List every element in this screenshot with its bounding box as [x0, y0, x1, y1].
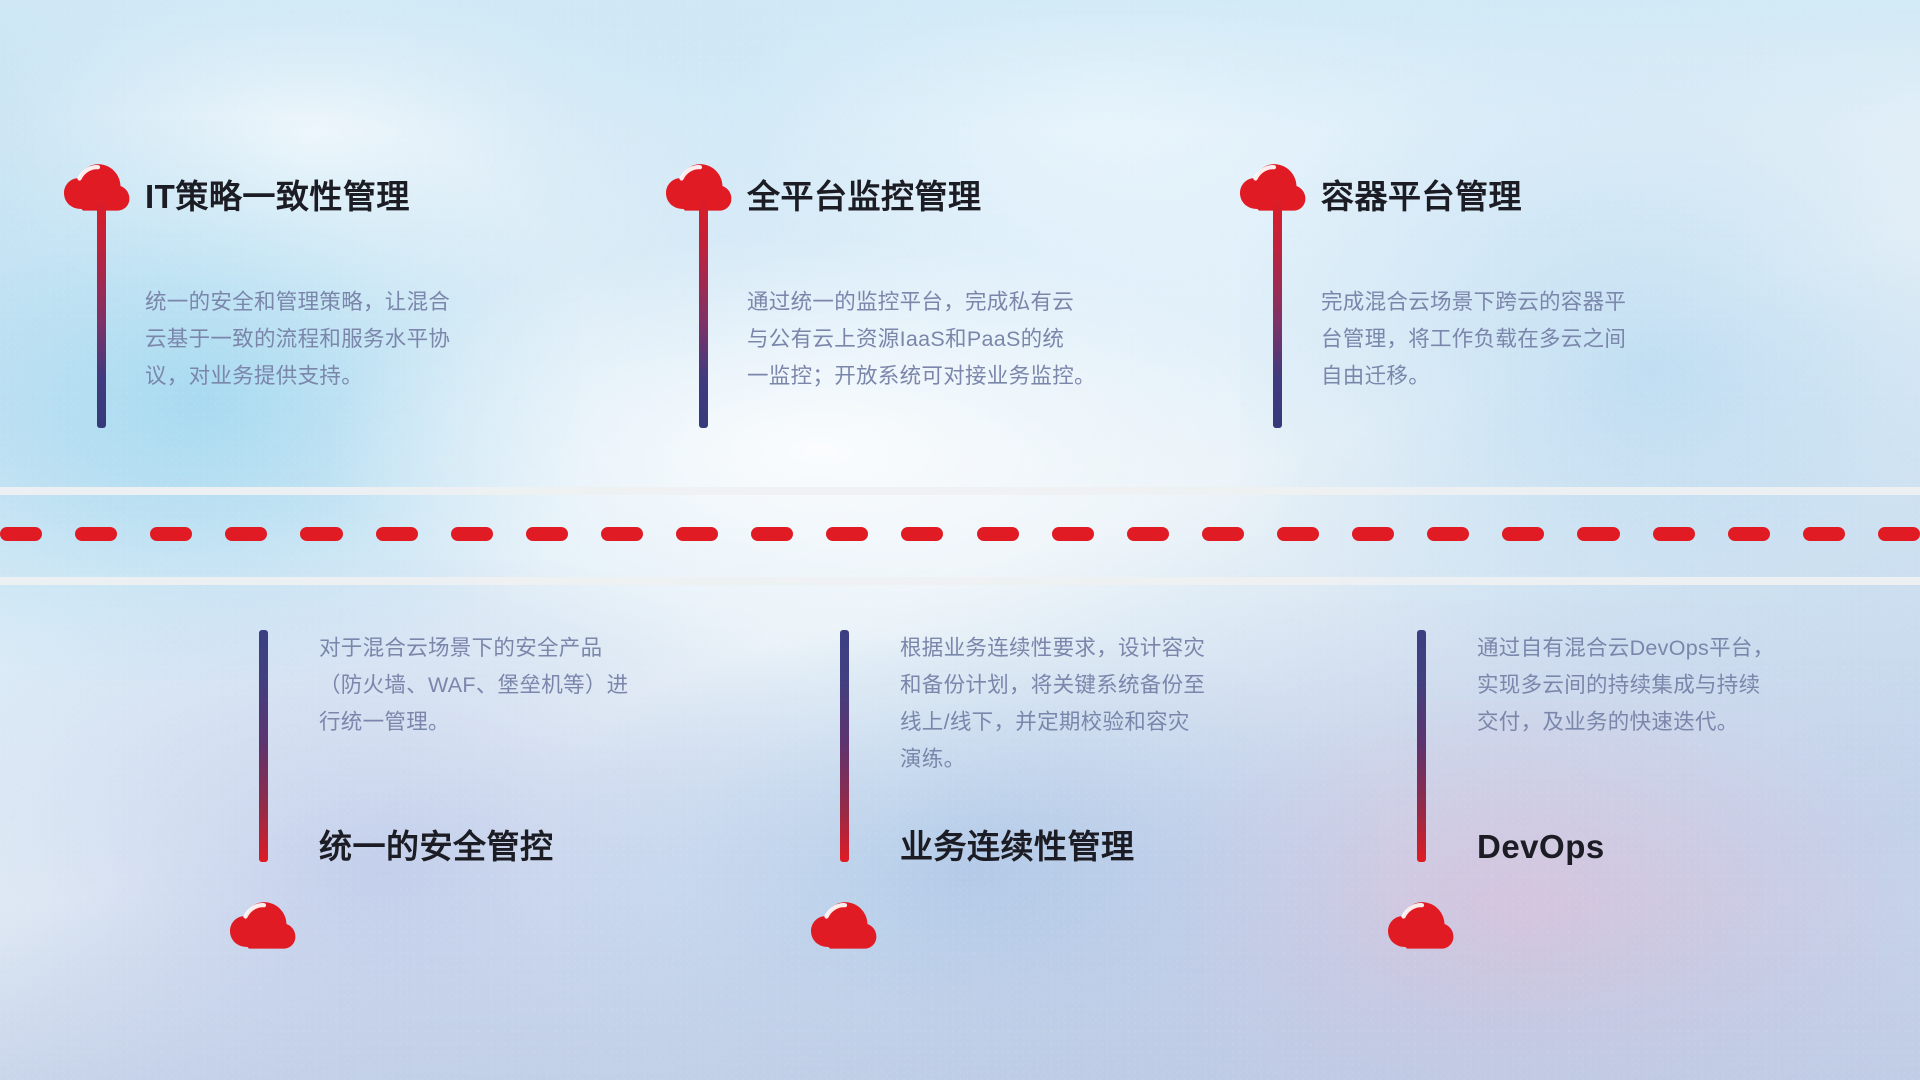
- dash-segment: [901, 527, 943, 541]
- card-body: 对于混合云场景下的安全产品 （防火墙、WAF、堡垒机等）进 行统一管理。: [319, 630, 759, 741]
- card-body: 完成混合云场景下跨云的容器平 台管理，将工作负载在多云之间 自由迁移。: [1321, 284, 1761, 395]
- dash-segment: [826, 527, 868, 541]
- dash-segment: [150, 527, 192, 541]
- connector-bar: [699, 196, 708, 428]
- dash-segment: [1127, 527, 1169, 541]
- card-title: 全平台监控管理: [747, 180, 982, 213]
- dash-segment: [1878, 527, 1920, 541]
- card-body: 统一的安全和管理策略，让混合 云基于一致的流程和服务水平协 议，对业务提供支持。: [145, 284, 585, 395]
- connector-bar: [1273, 196, 1282, 428]
- dash-segment: [1653, 527, 1695, 541]
- dash-segment: [0, 527, 42, 541]
- cloud-icon: [810, 900, 878, 950]
- dash-segment: [75, 527, 117, 541]
- card-title: DevOps: [1477, 830, 1605, 863]
- connector-bar: [840, 630, 849, 862]
- card-body: 通过自有混合云DevOps平台， 实现多云间的持续集成与持续 交付，及业务的快速…: [1477, 630, 1917, 741]
- connector-bar: [1417, 630, 1426, 862]
- divider-rule-bottom: [0, 577, 1920, 585]
- cloud-icon: [1387, 900, 1455, 950]
- card-title: IT策略一致性管理: [145, 180, 410, 213]
- divider-dashed-line: [0, 527, 1920, 541]
- card-title: 业务连续性管理: [900, 830, 1135, 863]
- dash-segment: [1728, 527, 1770, 541]
- dash-segment: [451, 527, 493, 541]
- connector-bar: [259, 630, 268, 862]
- dash-segment: [751, 527, 793, 541]
- dash-segment: [977, 527, 1019, 541]
- dash-segment: [601, 527, 643, 541]
- cloud-icon: [229, 900, 297, 950]
- dash-segment: [676, 527, 718, 541]
- card-body: 通过统一的监控平台，完成私有云 与公有云上资源IaaS和PaaS的统 一监控；开…: [747, 284, 1207, 395]
- dash-segment: [376, 527, 418, 541]
- connector-bar: [97, 196, 106, 428]
- dash-segment: [1277, 527, 1319, 541]
- card-title: 统一的安全管控: [319, 830, 554, 863]
- divider-band: [0, 487, 1920, 587]
- divider-rule-top: [0, 487, 1920, 495]
- card-title: 容器平台管理: [1321, 180, 1522, 213]
- card-body: 根据业务连续性要求，设计容灾 和备份计划，将关键系统备份至 线上/线下，并定期校…: [900, 630, 1340, 778]
- dash-segment: [1502, 527, 1544, 541]
- dash-segment: [1427, 527, 1469, 541]
- dash-segment: [1577, 527, 1619, 541]
- dash-segment: [1202, 527, 1244, 541]
- dash-segment: [300, 527, 342, 541]
- dash-segment: [1052, 527, 1094, 541]
- dash-segment: [526, 527, 568, 541]
- dash-segment: [1803, 527, 1845, 541]
- dash-segment: [225, 527, 267, 541]
- dash-segment: [1352, 527, 1394, 541]
